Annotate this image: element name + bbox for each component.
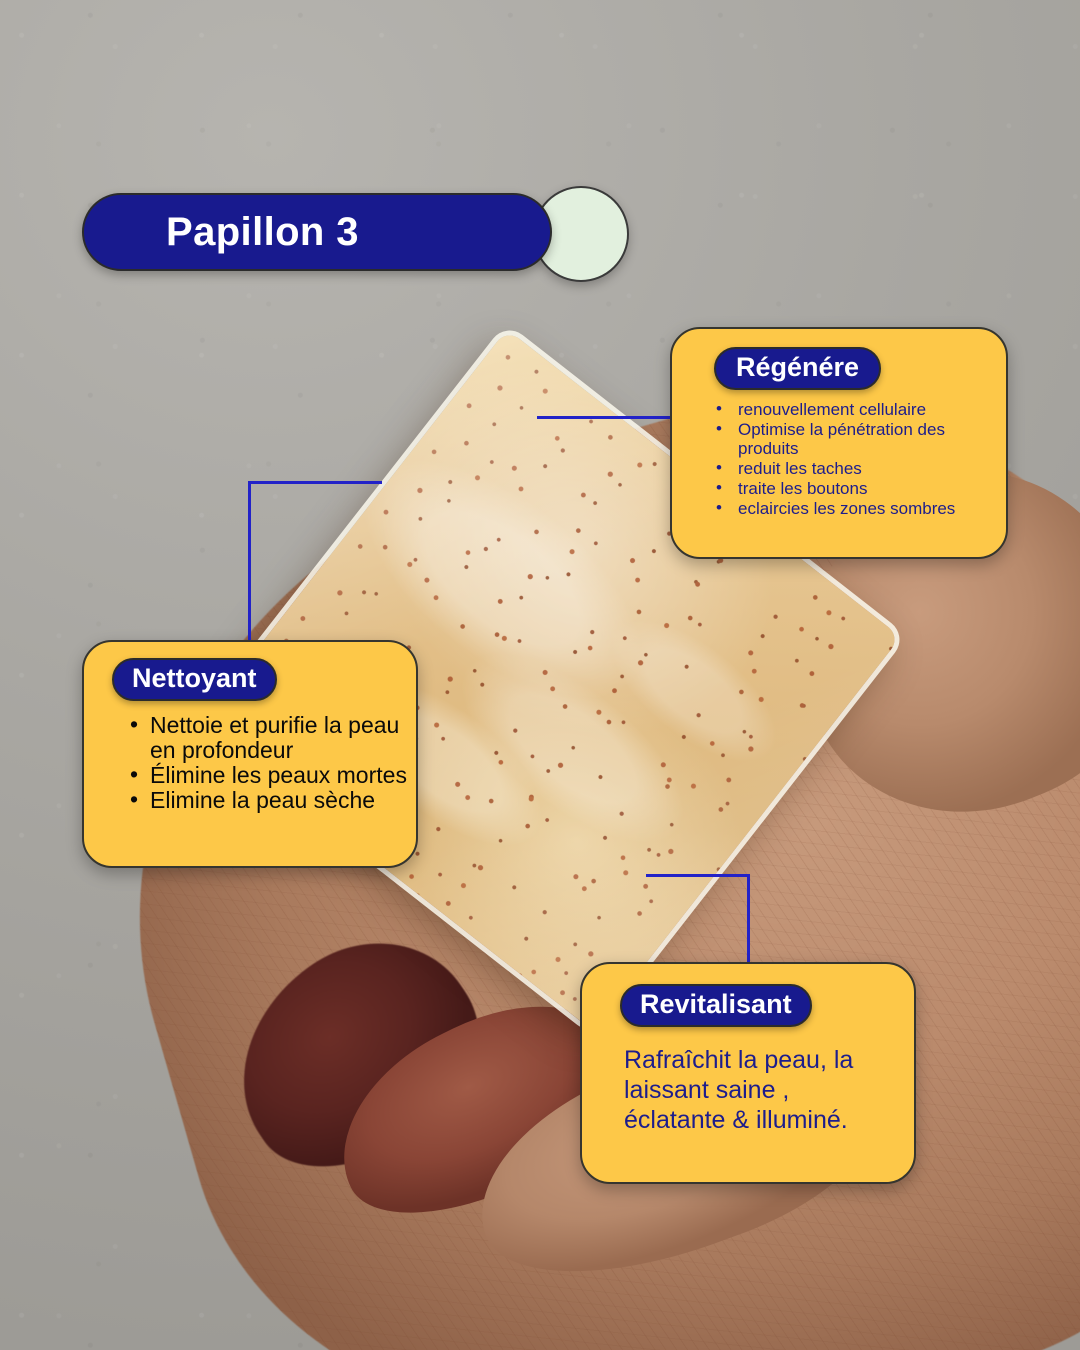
card-regenere-list: renouvellement cellulaire Optimise la pé…	[712, 400, 1006, 518]
list-item: eclaircies les zones sombres	[712, 499, 1006, 518]
list-item: Optimise la pénétration des produits	[712, 420, 1006, 458]
list-item: reduit les taches	[712, 459, 1006, 478]
leader-line-revitalisant-vertical	[747, 874, 750, 966]
leader-line-regenere	[537, 416, 672, 419]
page-title: Papillon 3	[166, 210, 359, 255]
list-item: traite les boutons	[712, 479, 1006, 498]
card-revitalisant-body: Rafraîchit la peau, la laissant saine , …	[624, 1045, 888, 1135]
title-bar: Papillon 3	[82, 193, 552, 271]
list-item: Élimine les peaux mortes	[126, 763, 416, 788]
card-regenere: Régénére renouvellement cellulaire Optim…	[670, 327, 1008, 559]
leader-line-revitalisant-horizontal	[646, 874, 750, 877]
leader-line-nettoyant-horizontal	[248, 481, 382, 484]
card-nettoyant: Nettoyant Nettoie et purifie la peau en …	[82, 640, 418, 868]
card-revitalisant-label: Revitalisant	[620, 984, 812, 1027]
card-nettoyant-list: Nettoie et purifie la peau en profondeur…	[126, 713, 416, 813]
list-item: Elimine la peau sèche	[126, 788, 416, 813]
infographic-canvas: Papillon 3 Régénére renouvellement cellu…	[0, 0, 1080, 1350]
list-item: renouvellement cellulaire	[712, 400, 1006, 419]
card-nettoyant-label: Nettoyant	[112, 658, 277, 701]
card-regenere-label: Régénére	[714, 347, 881, 390]
leader-line-nettoyant-vertical	[248, 481, 251, 643]
list-item: Nettoie et purifie la peau en profondeur	[126, 713, 416, 763]
card-revitalisant: Revitalisant Rafraîchit la peau, la lais…	[580, 962, 916, 1184]
